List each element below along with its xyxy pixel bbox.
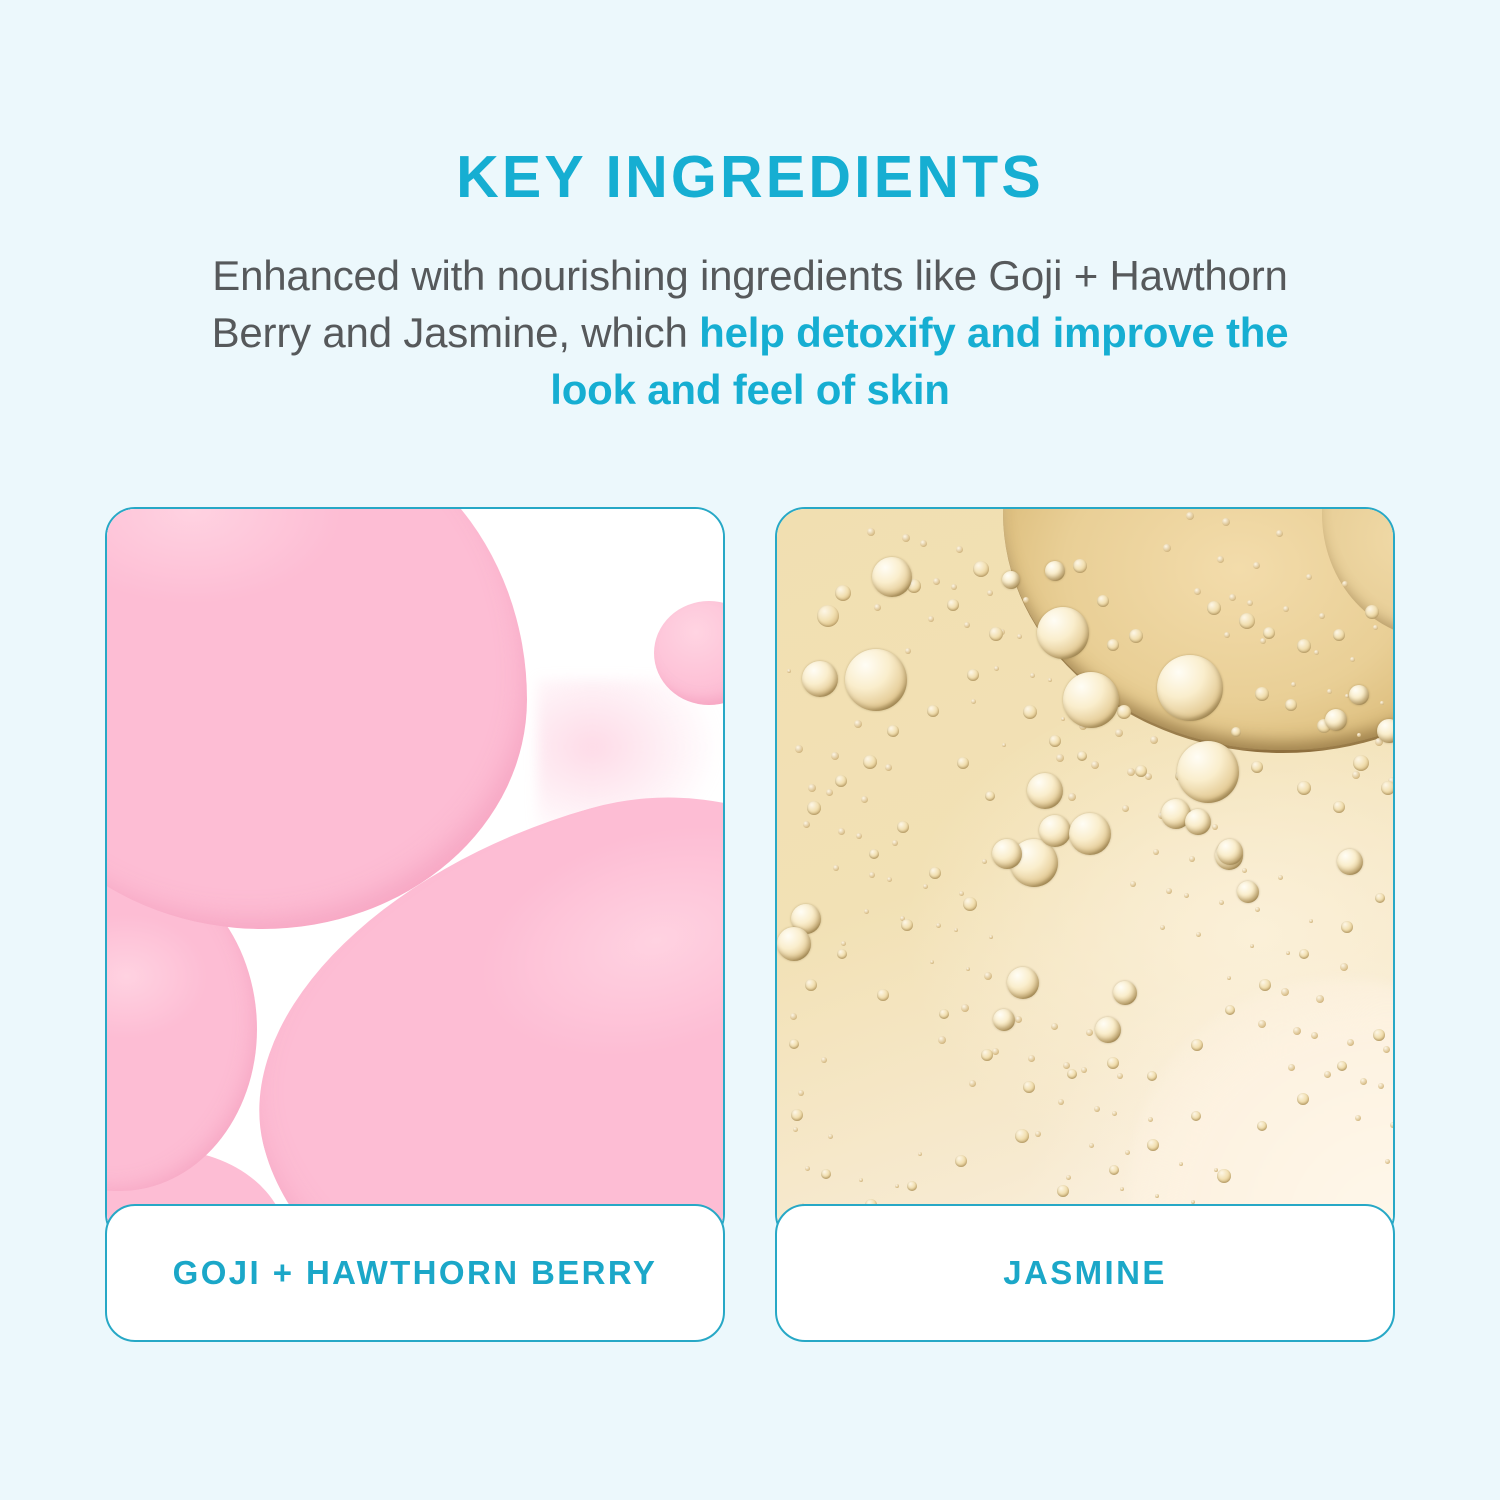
oil-bubble	[1023, 597, 1029, 603]
oil-bubble	[1352, 771, 1360, 779]
oil-bubble	[1337, 849, 1363, 875]
oil-bubble	[1089, 1143, 1094, 1148]
oil-bubble	[928, 616, 934, 622]
oil-bubble	[1129, 629, 1143, 643]
oil-bubble	[887, 725, 899, 737]
oil-bubble	[1390, 1122, 1393, 1128]
pink-droplet-gloss-highlight	[107, 509, 189, 539]
oil-bubble	[1355, 1115, 1361, 1121]
oil-bubble	[1023, 705, 1037, 719]
oil-bubble	[1063, 1062, 1070, 1069]
oil-bubble	[1212, 824, 1218, 830]
oil-bubble	[920, 540, 927, 547]
oil-bubble	[805, 979, 817, 991]
oil-bubble	[1023, 1081, 1035, 1093]
oil-bubble	[1297, 639, 1311, 653]
oil-bubble	[966, 967, 970, 971]
oil-bubble	[1007, 967, 1039, 999]
oil-bubble	[1112, 1111, 1117, 1116]
oil-bubble	[854, 720, 862, 728]
infographic-root: KEY INGREDIENTS Enhanced with nourishing…	[0, 0, 1500, 1500]
subtitle: Enhanced with nourishing ingredients lik…	[0, 247, 1500, 418]
oil-bubble	[1077, 751, 1087, 761]
oil-bubble	[897, 821, 909, 833]
oil-bubble	[927, 705, 939, 717]
oil-bubble	[845, 649, 907, 711]
oil-bubble	[1285, 699, 1297, 711]
oil-bubble	[901, 919, 913, 931]
oil-bubble	[885, 764, 892, 771]
oil-bubble	[874, 604, 881, 611]
ingredient-label-band-jasmine: JASMINE	[775, 1204, 1395, 1342]
oil-bubble	[789, 1039, 799, 1049]
oil-bubble	[802, 661, 838, 697]
page-title: KEY INGREDIENTS	[0, 148, 1500, 207]
oil-bubble	[1115, 729, 1123, 737]
ingredient-card-jasmine[interactable]: JASMINE	[775, 507, 1395, 1342]
oil-bubble	[1373, 1029, 1385, 1041]
oil-bubble	[967, 669, 979, 681]
oil-bubble	[1109, 1165, 1119, 1175]
oil-bubble	[1251, 761, 1263, 773]
oil-bubble	[1227, 976, 1231, 980]
oil-bubble	[923, 884, 928, 889]
oil-bubble	[954, 928, 958, 932]
oil-bubble	[1365, 605, 1379, 619]
oil-bubble	[982, 859, 987, 864]
oil-bubble	[863, 755, 877, 769]
oil-bubble	[1120, 1187, 1124, 1191]
oil-bubble	[1324, 1071, 1331, 1078]
oil-bubble	[821, 1169, 831, 1179]
oil-bubble	[1051, 1023, 1058, 1030]
oil-bubble	[1373, 625, 1378, 630]
oil-bubble	[793, 1127, 798, 1132]
ingredient-image-jasmine	[775, 507, 1395, 1244]
oil-bubble	[869, 849, 879, 859]
oil-bubble	[936, 923, 941, 928]
oil-bubble	[835, 775, 847, 787]
oil-bubble	[1297, 781, 1311, 795]
oil-bubble	[1299, 949, 1309, 959]
subtitle-line-1: Enhanced with nourishing ingredients lik…	[212, 252, 1098, 299]
oil-bubble	[1113, 981, 1137, 1005]
oil-bubble	[1184, 893, 1189, 898]
ingredient-label-band-goji-hawthorn-berry: GOJI + HAWTHORN BERRY	[105, 1204, 725, 1342]
oil-bubble	[951, 584, 957, 590]
oil-bubble	[907, 1181, 917, 1191]
subtitle-line-2-highlight: help detoxify	[699, 309, 955, 356]
oil-bubble	[1125, 1150, 1130, 1155]
oil-bubble	[1166, 888, 1172, 894]
oil-bubble	[1066, 1175, 1071, 1180]
oil-bubble	[1347, 1039, 1354, 1046]
oil-bubble	[1225, 1005, 1235, 1015]
oil-bubble	[1378, 1083, 1384, 1089]
ingredient-cards: GOJI + HAWTHORN BERRY JASMINE	[105, 507, 1395, 1342]
oil-bubble	[1231, 727, 1241, 737]
oil-bubble	[1250, 944, 1254, 948]
oil-bubble	[959, 891, 964, 896]
oil-bubble	[1067, 1069, 1077, 1079]
oil-bubble	[1194, 588, 1201, 595]
oil-bubble	[1375, 893, 1385, 903]
oil-bubble	[929, 867, 941, 879]
oil-bubble	[1157, 655, 1223, 721]
oil-bubble	[1049, 735, 1061, 747]
oil-bubble	[808, 784, 816, 792]
oil-bubble	[1002, 571, 1020, 589]
oil-bubble	[1276, 530, 1283, 537]
ingredient-card-goji-hawthorn-berry[interactable]: GOJI + HAWTHORN BERRY	[105, 507, 725, 1342]
oil-bubble	[1107, 1057, 1119, 1069]
oil-bubble	[905, 648, 911, 654]
oil-bubble	[992, 839, 1022, 869]
oil-bubble	[1073, 559, 1087, 573]
oil-bubble	[805, 1166, 810, 1171]
oil-bubble	[1069, 813, 1111, 855]
oil-bubble	[918, 1152, 922, 1156]
oil-bubble	[1281, 988, 1289, 996]
oil-bubble	[947, 599, 959, 611]
oil-bubble	[939, 1009, 949, 1019]
oil-bubble	[1253, 562, 1260, 569]
oil-bubble	[1045, 561, 1065, 581]
oil-bubble	[1135, 765, 1147, 777]
oil-bubble	[963, 897, 977, 911]
oil-bubble	[831, 752, 839, 760]
oil-bubble	[872, 557, 912, 597]
oil-bubble	[1117, 705, 1131, 719]
oil-bubble	[1333, 629, 1345, 641]
oil-bubble	[1278, 875, 1283, 880]
oil-bubble	[1057, 1185, 1069, 1197]
oil-bubble	[1002, 743, 1006, 747]
oil-bubble	[1255, 687, 1269, 701]
oil-bubble	[1286, 951, 1290, 955]
oil-bubble	[1015, 1129, 1029, 1143]
oil-bubble	[1177, 741, 1239, 803]
oil-bubble	[867, 528, 875, 536]
oil-bubble	[955, 1155, 967, 1167]
oil-bubble	[973, 561, 989, 577]
oil-bubble	[1333, 801, 1345, 813]
oil-bubble	[877, 989, 889, 1001]
oil-bubble	[1094, 1106, 1100, 1112]
oil-bubble	[1341, 921, 1353, 933]
oil-bubble	[1028, 1055, 1035, 1062]
oil-bubble	[1179, 1162, 1183, 1166]
oil-bubble	[859, 1178, 863, 1182]
oil-bubble	[826, 789, 833, 796]
oil-bubble	[1258, 1020, 1266, 1028]
oil-bubble	[1147, 1139, 1159, 1151]
oil-bubble	[1015, 1016, 1022, 1023]
oil-bubble	[971, 699, 976, 704]
oil-bubble	[985, 791, 995, 801]
oil-bubble	[1360, 1078, 1367, 1085]
ingredient-image-goji-hawthorn-berry	[105, 507, 725, 1244]
oil-bubble	[1297, 1093, 1309, 1105]
oil-bubble	[1257, 1121, 1267, 1131]
oil-bubble	[1350, 657, 1355, 662]
oil-bubble	[1383, 1046, 1390, 1053]
golden-oil-artwork	[777, 509, 1393, 1242]
oil-bubble	[957, 757, 969, 769]
oil-bubble	[807, 801, 821, 815]
oil-bubble	[803, 821, 810, 828]
ingredient-label-goji-hawthorn-berry: GOJI + HAWTHORN BERRY	[173, 1254, 658, 1292]
oil-bubble	[791, 1109, 803, 1121]
oil-bubble	[835, 585, 851, 601]
oil-bubble	[969, 1080, 976, 1087]
oil-bubble	[993, 1009, 1015, 1031]
oil-bubble	[777, 927, 811, 961]
oil-bubble	[1095, 1017, 1121, 1043]
oil-bubble	[1217, 556, 1224, 563]
oil-bubble	[989, 627, 1003, 641]
oil-bubble	[1325, 709, 1347, 731]
oil-bubble	[828, 1134, 833, 1139]
oil-bubble	[1063, 672, 1119, 728]
ingredient-label-jasmine: JASMINE	[1003, 1254, 1167, 1292]
header: KEY INGREDIENTS Enhanced with nourishing…	[0, 0, 1500, 418]
oil-bubble	[981, 1049, 993, 1061]
oil-bubble	[777, 509, 781, 513]
oil-bubble	[1163, 544, 1171, 552]
oil-bubble	[1191, 1111, 1201, 1121]
oil-bubble	[1349, 685, 1369, 705]
oil-bubble	[1263, 627, 1275, 639]
oil-bubble	[1340, 963, 1348, 971]
oil-bubble	[1097, 595, 1109, 607]
oil-bubble	[1027, 773, 1063, 809]
oil-bubble	[798, 1090, 804, 1096]
oil-bubble	[1239, 613, 1255, 629]
oil-bubble	[1189, 856, 1195, 862]
oil-bubble	[1309, 919, 1313, 923]
oil-bubble	[1381, 781, 1393, 795]
oil-bubble	[1107, 639, 1119, 651]
oil-bubble	[1147, 1071, 1157, 1081]
oil-bubble	[1185, 809, 1211, 835]
oil-bubble	[837, 949, 847, 959]
oil-bubble	[1217, 1169, 1231, 1183]
oil-bubble	[1186, 512, 1194, 520]
oil-bubble	[817, 605, 839, 627]
oil-bubble	[1061, 717, 1065, 721]
oil-bubble	[1217, 839, 1243, 865]
oil-bubble	[1259, 979, 1271, 991]
oil-bubble	[1039, 815, 1071, 847]
pink-serum-artwork	[107, 509, 723, 1242]
oil-bubble	[1207, 601, 1221, 615]
oil-bubble	[1353, 755, 1369, 771]
oil-bubble	[1191, 1039, 1203, 1051]
oil-bubble	[1255, 907, 1260, 912]
oil-bubble	[1237, 881, 1259, 903]
oil-bubble	[1037, 607, 1089, 659]
oil-bubble	[1337, 1061, 1347, 1071]
oil-bubble	[1327, 689, 1332, 694]
